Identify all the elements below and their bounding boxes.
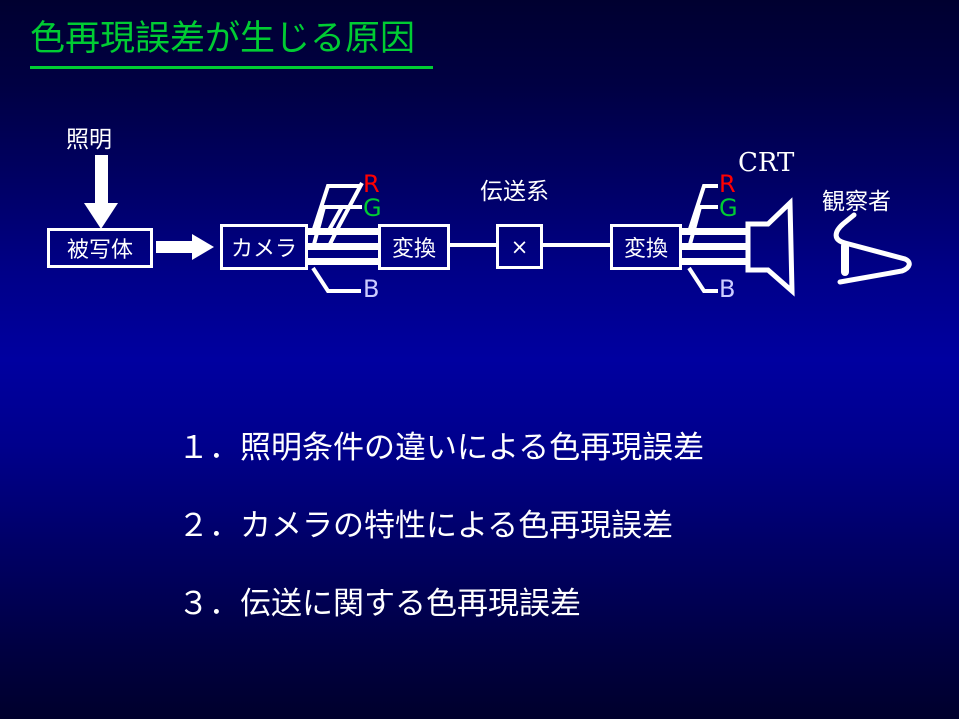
crt-display-icon bbox=[748, 203, 792, 291]
channel-label-crt-g: G bbox=[719, 196, 738, 220]
leader-line-camera-r bbox=[328, 183, 362, 248]
wire-camera-r bbox=[306, 228, 378, 235]
channel-label-crt-b: B bbox=[719, 277, 735, 301]
label-observer: 観察者 bbox=[822, 182, 891, 216]
diagram-box-multiply[interactable]: × bbox=[496, 224, 543, 269]
wire-crt-g bbox=[682, 243, 748, 250]
diagram-box-camera[interactable]: カメラ bbox=[220, 224, 308, 270]
wire-camera-b bbox=[306, 258, 378, 265]
leader-line-camera-b bbox=[313, 268, 361, 291]
wire-crt-b bbox=[682, 258, 748, 265]
channel-label-crt-r: R bbox=[719, 172, 736, 196]
diagram-box-subject[interactable]: 被写体 bbox=[47, 228, 153, 268]
leader-line-crt-r bbox=[689, 186, 718, 232]
label-transmission-system: 伝送系 bbox=[480, 172, 549, 206]
diagram-box-convert-encode[interactable]: 変換 bbox=[378, 224, 450, 270]
wire-camera-g bbox=[306, 243, 378, 250]
arrow-down-icon-head bbox=[84, 203, 118, 229]
label-illumination: 照明 bbox=[66, 120, 112, 154]
leader-line-crt-b bbox=[689, 268, 718, 291]
list-item: ３．伝送に関する色再現誤差 bbox=[178, 578, 581, 623]
leader-line-camera-r-line bbox=[313, 186, 361, 232]
title-underline bbox=[30, 66, 433, 69]
channel-label-camera-r: R bbox=[363, 172, 380, 196]
list-item: ２．カメラの特性による色再現誤差 bbox=[178, 500, 673, 545]
wire-crt-r bbox=[682, 228, 748, 235]
wire-convert-to-multiply bbox=[450, 243, 497, 247]
observer-eye-icon bbox=[836, 215, 909, 282]
channel-label-camera-b: B bbox=[363, 277, 379, 301]
slide-canvas: 色再現誤差が生じる原因 照明 被写体 カメラ 変換 × 変換 伝送系 CRT 観… bbox=[0, 0, 959, 719]
label-crt: CRT bbox=[738, 148, 794, 178]
list-item: １．照明条件の違いによる色再現誤差 bbox=[178, 422, 704, 467]
channel-label-camera-g: G bbox=[363, 196, 382, 220]
page-title: 色再現誤差が生じる原因 bbox=[30, 20, 415, 59]
wire-multiply-to-convert bbox=[543, 243, 611, 247]
arrow-right-icon-head bbox=[192, 234, 214, 260]
diagram-box-convert-decode[interactable]: 変換 bbox=[610, 224, 682, 270]
